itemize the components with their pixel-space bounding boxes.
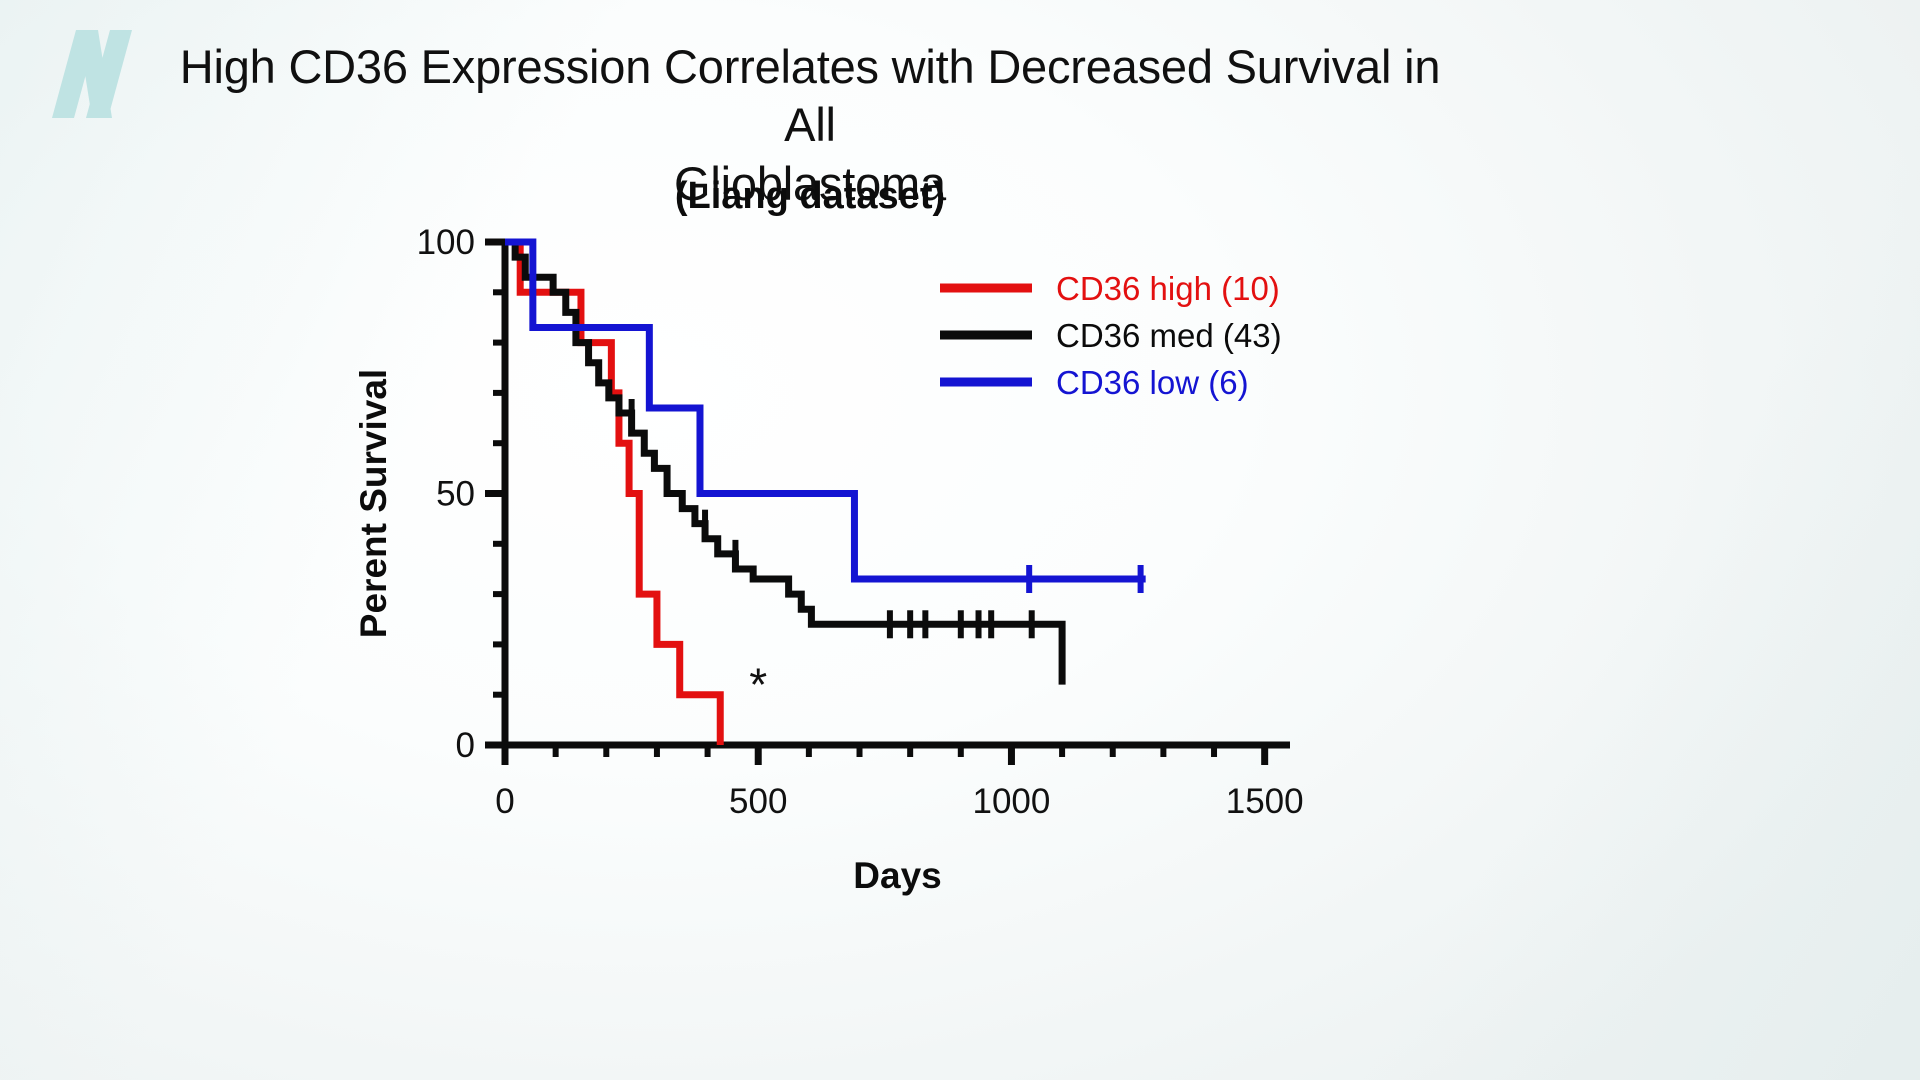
x-axis-title: Days — [853, 855, 941, 896]
x-axis-tick-label: 0 — [495, 782, 514, 821]
legend-label-med: CD36 med (43) — [1056, 317, 1282, 354]
y-axis-title: Perent Survival — [353, 369, 394, 638]
page-title-line-1: High CD36 Expression Correlates with Dec… — [180, 40, 1441, 151]
x-axis-tick-label: 500 — [729, 782, 787, 821]
x-axis-tick-label: 1500 — [1226, 782, 1304, 821]
x-axis-tick-label: 1000 — [973, 782, 1051, 821]
chart-subtitle: (Liang dataset) — [675, 175, 945, 217]
chart-series-layer — [505, 242, 1146, 745]
significance-star: * — [749, 659, 767, 711]
chart-axes: 050100050010001500 — [417, 223, 1304, 821]
chart-annotations: * — [749, 659, 767, 711]
chart-legend: CD36 high (10)CD36 med (43)CD36 low (6) — [940, 270, 1282, 401]
legend-label-low: CD36 low (6) — [1056, 364, 1249, 401]
series-curve-high — [505, 242, 720, 745]
legend-label-high: CD36 high (10) — [1056, 270, 1280, 307]
brand-logo-icon — [34, 18, 150, 130]
survival-chart: (Liang dataset) 050100050010001500 * CD3… — [330, 160, 1340, 900]
series-curve-low — [505, 242, 1146, 579]
y-axis-tick-label: 100 — [417, 223, 475, 262]
censor-marks-layer — [632, 399, 1141, 638]
slide: High CD36 Expression Correlates with Dec… — [0, 0, 1920, 1080]
y-axis-tick-label: 0 — [456, 726, 475, 765]
y-axis-tick-label: 50 — [436, 475, 475, 514]
